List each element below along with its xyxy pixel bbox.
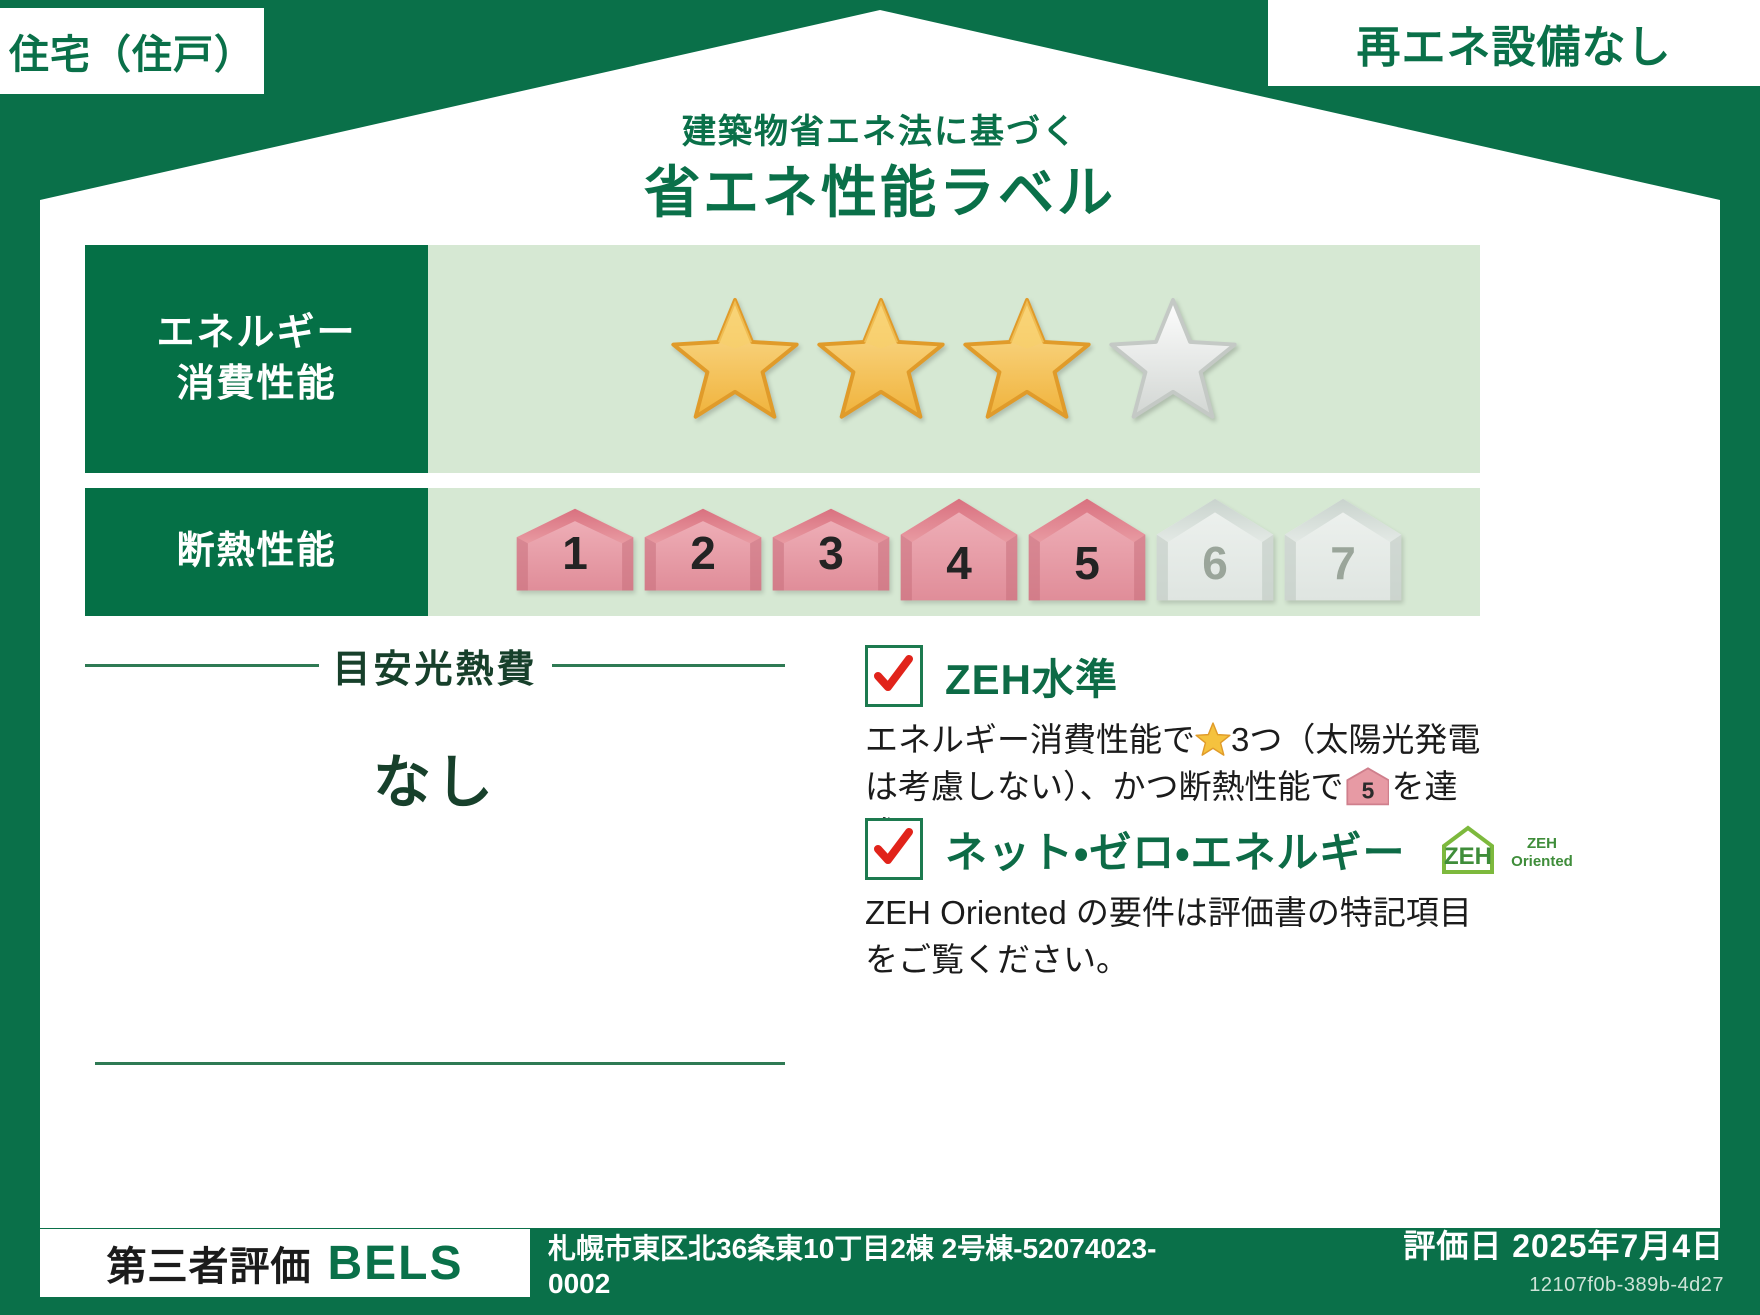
zeh-desc-part1: エネルギー消費性能で bbox=[865, 721, 1195, 758]
footer: 第三者評価 BELS 札幌市東区北36条東10丁目2棟 2号棟-52074023… bbox=[0, 1223, 1760, 1315]
zeh-standard-title: ZEH水準 bbox=[945, 646, 1118, 707]
inline-house-5-icon: 5 bbox=[1346, 767, 1390, 805]
property-address: 札幌市東区北36条東10丁目2棟 2号棟-52074023-0002 bbox=[548, 1231, 1188, 1301]
svg-text:ZEH: ZEH bbox=[1527, 835, 1557, 852]
zeh-standard-checkbox[interactable] bbox=[865, 645, 923, 707]
net-zero-energy-description: ZEH Oriented の要件は評価書の特記項目をご覧ください。 bbox=[865, 890, 1485, 984]
insulation-house-3: 3 bbox=[769, 510, 893, 594]
insulation-house-2: 2 bbox=[641, 510, 765, 594]
insulation-house-1: 1 bbox=[513, 510, 637, 594]
svg-text:5: 5 bbox=[1361, 778, 1374, 804]
evaluation-date: 評価日 2025年7月4日 bbox=[1403, 1221, 1724, 1267]
insulation-house-4: 4 bbox=[897, 500, 1021, 604]
energy-performance-row: エネルギー 消費性能 bbox=[85, 245, 1480, 473]
insulation-house-5: 5 bbox=[1025, 500, 1149, 604]
bels-logo-text: BELS bbox=[327, 1236, 463, 1291]
insulation-house-7: 7 bbox=[1281, 500, 1405, 604]
energy-label-line1: エネルギー bbox=[156, 308, 356, 359]
svg-text:ZEH: ZEH bbox=[1444, 843, 1492, 870]
zeh-desc-part2: 3つ（太陽光発電 bbox=[1231, 721, 1480, 758]
utility-rule-left bbox=[85, 664, 319, 667]
star-icon-1 bbox=[669, 296, 801, 422]
zeh-standard-header: ZEH水準 bbox=[865, 645, 1485, 707]
insulation-performance-row: 断熱性能 1 bbox=[85, 488, 1480, 616]
inline-star-icon bbox=[1195, 722, 1231, 756]
utility-cost-value: なし bbox=[85, 735, 785, 819]
energy-label-line2: 消費性能 bbox=[176, 359, 336, 410]
page-title: 省エネ性能ラベル bbox=[0, 148, 1760, 229]
star-icon-3 bbox=[961, 296, 1093, 422]
energy-performance-label: エネルギー 消費性能 bbox=[85, 245, 428, 473]
third-party-evaluation-label: 第三者評価 bbox=[106, 1234, 311, 1292]
svg-text:Oriented: Oriented bbox=[1511, 853, 1573, 870]
net-zero-energy-checkbox[interactable] bbox=[865, 818, 923, 880]
utility-rule-bottom bbox=[95, 1062, 785, 1065]
net-zero-energy-title: ネット・ゼロ・エネルギー bbox=[945, 819, 1406, 880]
title-subtitle: 建築物省エネ法に基づく bbox=[0, 104, 1760, 153]
net-zero-energy-header: ネット・ゼロ・エネルギー ZEH ZEH Oriented bbox=[865, 818, 1485, 880]
badge-renewable-energy: 再エネ設備なし bbox=[1268, 0, 1760, 86]
insulation-house-6: 6 bbox=[1153, 500, 1277, 604]
zeh-desc-part3: は考慮しない）、かつ断熱性能で bbox=[865, 768, 1344, 805]
utility-rule-right bbox=[552, 664, 786, 667]
star-icon-2 bbox=[815, 296, 947, 422]
bels-certification-badge: 第三者評価 BELS bbox=[40, 1229, 530, 1297]
utility-cost-label: 目安光熱費 bbox=[333, 638, 538, 693]
insulation-level-scale: 1 2 3 bbox=[428, 488, 1480, 616]
star-icon-4-empty bbox=[1107, 296, 1239, 422]
net-zero-energy-block: ネット・ゼロ・エネルギー ZEH ZEH Oriented ZEH Orient… bbox=[865, 818, 1485, 984]
badge-building-type: 住宅（住戸） bbox=[0, 8, 264, 94]
zeh-oriented-logo-icon: ZEH ZEH Oriented bbox=[1438, 820, 1588, 878]
evaluation-id: 12107f0b-389b-4d27 bbox=[1529, 1274, 1724, 1297]
bels-energy-label: 住宅（住戸） 再エネ設備なし 建築物省エネ法に基づく 省エネ性能ラベル エネルギ… bbox=[0, 0, 1760, 1315]
energy-star-rating bbox=[428, 245, 1480, 473]
insulation-performance-label: 断熱性能 bbox=[85, 488, 428, 616]
utility-cost-heading: 目安光熱費 bbox=[85, 638, 785, 693]
